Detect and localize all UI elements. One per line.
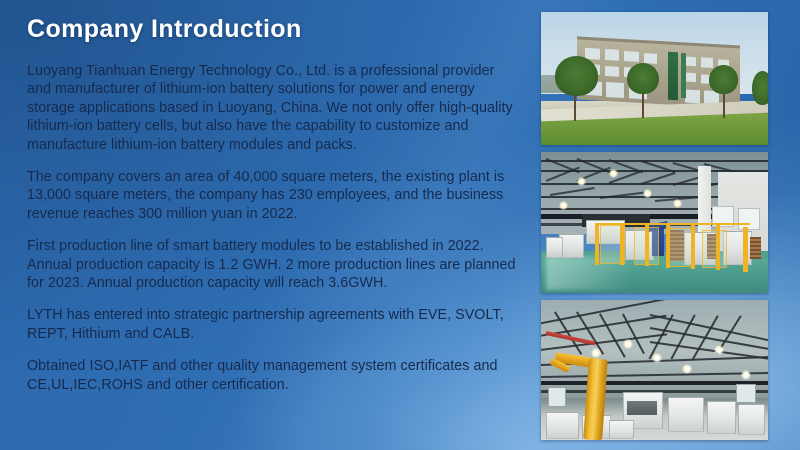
tree-foliage (627, 63, 659, 95)
ceiling-light (714, 345, 724, 355)
ground-floor-window (685, 89, 700, 103)
stacked-coil-material (750, 237, 761, 260)
paragraph-production-capacity: First production line of smart battery m… (27, 237, 519, 292)
paragraph-facility-stats: The company covers an area of 40,000 squ… (27, 168, 519, 223)
machine-unit (609, 420, 634, 439)
ground-floor-window (607, 82, 625, 97)
safety-mesh-panel (702, 230, 727, 269)
safety-fence-post (645, 224, 649, 266)
window (702, 58, 713, 68)
press-machine-opening (627, 401, 657, 415)
wall-window (736, 384, 756, 403)
tree-foliage (555, 56, 598, 96)
window (585, 48, 600, 59)
ceiling-light (591, 348, 601, 358)
slide-canvas: Company Introduction Luoyang Tianhuan En… (0, 0, 800, 450)
photo-office-building-exterior (541, 12, 768, 145)
machine-unit (546, 412, 580, 439)
window (644, 53, 657, 64)
paragraph-partnerships: LYTH has entered into strategic partners… (27, 306, 519, 343)
ceiling-light (623, 339, 633, 349)
safety-fence-post (595, 223, 599, 265)
safety-mesh-panel (668, 228, 693, 267)
window (685, 72, 696, 82)
wall-window (548, 387, 566, 407)
safety-fence-post (620, 223, 624, 265)
green-accent-panel (668, 52, 678, 100)
ceiling-light (673, 199, 682, 208)
crane-rail-beam (541, 381, 768, 385)
paragraph-certifications: Obtained ISO,IATF and other quality mana… (27, 357, 519, 394)
safety-fence-post (666, 224, 670, 268)
photo-office-building-content (541, 12, 768, 145)
tree-foliage (709, 65, 739, 94)
safety-fence-post (691, 225, 695, 269)
window (605, 65, 620, 76)
ceiling-light (643, 189, 652, 198)
photo-jib-crane-workshop (541, 300, 768, 440)
page-title: Company Introduction (27, 15, 302, 44)
machine-unit (738, 404, 765, 435)
safety-fence-post (716, 225, 720, 270)
photo-production-line-content (541, 152, 768, 293)
wall-window (738, 208, 760, 230)
window (625, 51, 640, 62)
ceiling-light (741, 370, 751, 380)
body-text-column: Luoyang Tianhuan Energy Technology Co., … (27, 62, 519, 394)
paragraph-company-overview: Luoyang Tianhuan Energy Technology Co., … (27, 62, 519, 154)
machine-unit (546, 237, 564, 259)
roof-truss-chord (541, 160, 768, 162)
photo-jib-crane-content (541, 300, 768, 440)
green-accent-panel (681, 53, 686, 98)
photo-production-line-hall (541, 152, 768, 293)
press-machine (668, 397, 704, 433)
ceiling-light (609, 169, 618, 178)
window (605, 49, 620, 60)
safety-fence-post (743, 227, 748, 272)
machine-unit (707, 401, 736, 434)
window (685, 56, 696, 66)
safety-fence-rail (595, 223, 749, 225)
tree-foliage (752, 71, 768, 106)
